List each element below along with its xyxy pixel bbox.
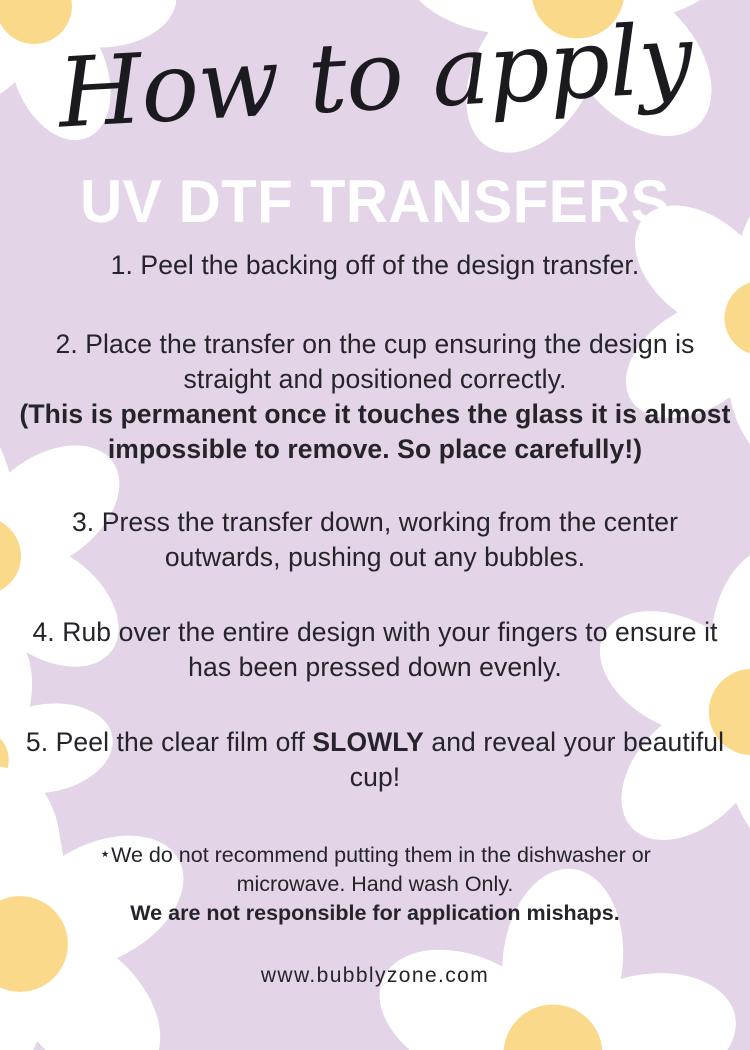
step-5-lead: 5. Peel the clear film off [26,727,313,757]
step-item-2: 2. Place the transfer on the cup ensurin… [0,327,750,467]
step-2-text: 2. Place the transfer on the cup ensurin… [56,329,695,394]
disclaimer-line-1: ⋆We do not recommend putting them in the… [34,841,716,870]
step-5-emphasis: SLOWLY [312,727,424,757]
step-item-4: 4. Rub over the entire design with your … [0,615,750,685]
step-item-5: 5. Peel the clear film off SLOWLY and re… [0,725,750,795]
step-2-note: (This is permanent once it touches the g… [16,397,734,467]
star-icon: ⋆ [99,844,111,865]
disclaimer-block: ⋆We do not recommend putting them in the… [0,841,750,928]
step-4-text: 4. Rub over the entire design with your … [32,617,717,682]
page-title: UV DTF TRANSFERS [11,172,739,232]
script-heading: How to apply [0,7,750,145]
step-1-text: 1. Peel the backing off of the design tr… [111,250,640,280]
step-item-1: 1. Peel the backing off of the design tr… [0,248,750,283]
instruction-steps-list: 1. Peel the backing off of the design tr… [0,248,750,988]
disclaimer-line-1-text: We do not recommend putting them in the … [111,843,651,867]
step-3-text: 3. Press the transfer down, working from… [72,507,678,572]
poster-canvas: How to apply UV DTF TRANSFERS 1. Peel th… [0,0,750,1050]
website-url[interactable]: www.bubblyzone.com [0,964,750,988]
disclaimer-line-2: microwave. Hand wash Only. [34,870,716,899]
step-item-3: 3. Press the transfer down, working from… [0,505,750,575]
disclaimer-line-3: We are not responsible for application m… [34,899,716,928]
